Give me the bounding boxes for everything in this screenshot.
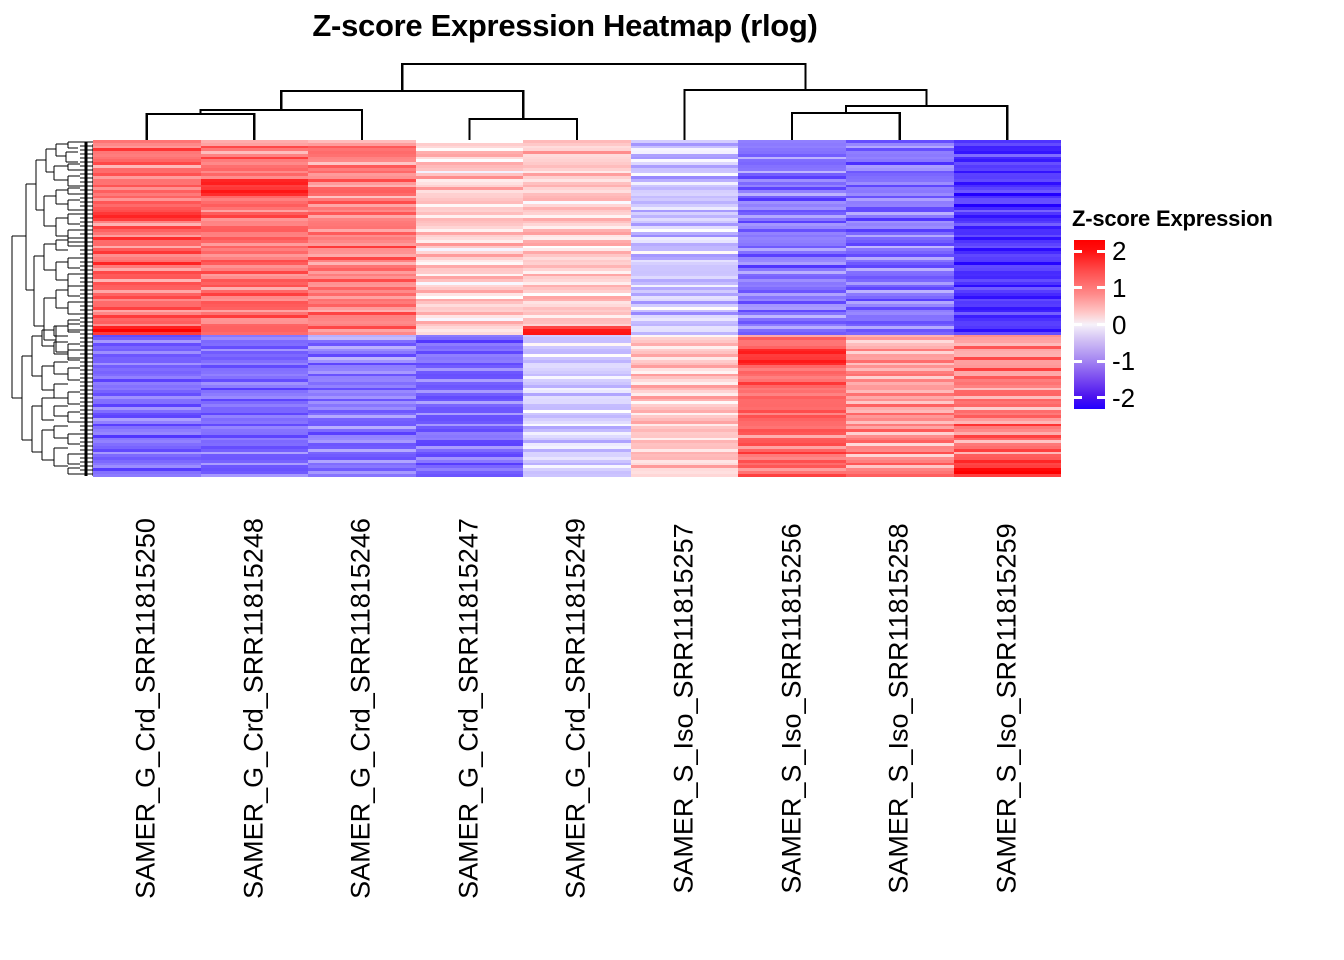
legend-tick-label: 2 — [1112, 238, 1126, 264]
heatmap-cell — [308, 474, 416, 477]
column-label-2: SAMER_G_Crd_SRR11815248 — [201, 478, 309, 948]
legend-tick-label: -2 — [1112, 385, 1135, 411]
column-label-text: SAMER_G_Crd_SRR11815249 — [561, 518, 592, 899]
legend-body: 210-1-2 — [1072, 240, 1338, 415]
row-dendrogram — [10, 140, 93, 476]
heatmap-cell — [954, 474, 1062, 477]
legend: Z-score Expression 210-1-2 — [1072, 206, 1338, 415]
heatmap-column — [93, 140, 201, 476]
heatmap-cell — [738, 474, 846, 477]
legend-tick — [1074, 323, 1105, 326]
column-label-text: SAMER_G_Crd_SRR11815247 — [453, 518, 484, 899]
heatmap-grid — [93, 140, 1061, 476]
legend-tick-label: 1 — [1112, 275, 1126, 301]
heatmap-column — [846, 140, 954, 476]
heatmap-cell — [523, 474, 631, 477]
heatmap-column — [954, 140, 1062, 476]
page-title: Z-score Expression Heatmap (rlog) — [0, 8, 1130, 44]
heatmap-cell — [846, 474, 954, 477]
legend-tick — [1074, 250, 1105, 253]
heatmap-figure: Z-score Expression Heatmap (rlog) — [0, 0, 1344, 960]
column-label-text: SAMER_S_Iso_SRR11815258 — [884, 523, 915, 893]
heatmap-column — [416, 140, 524, 476]
legend-tick-label: -1 — [1112, 348, 1135, 374]
column-label-text: SAMER_G_Crd_SRR11815246 — [346, 518, 377, 899]
heatmap-cell — [631, 474, 739, 477]
column-label-text: SAMER_G_Crd_SRR11815248 — [238, 518, 269, 899]
column-label-6: SAMER_S_Iso_SRR11815257 — [631, 478, 739, 948]
heatmap-column — [201, 140, 309, 476]
legend-tick — [1074, 396, 1105, 399]
heatmap-column — [631, 140, 739, 476]
column-label-text: SAMER_S_Iso_SRR11815257 — [669, 523, 700, 893]
legend-title: Z-score Expression — [1072, 206, 1338, 232]
column-label-1: SAMER_G_Crd_SRR11815250 — [93, 478, 201, 948]
heatmap-column — [738, 140, 846, 476]
column-label-7: SAMER_S_Iso_SRR11815256 — [738, 478, 846, 948]
heatmap-column — [523, 140, 631, 476]
column-label-8: SAMER_S_Iso_SRR11815258 — [846, 478, 954, 948]
legend-tick — [1074, 360, 1105, 363]
legend-tick-label: 0 — [1112, 312, 1126, 338]
column-label-3: SAMER_G_Crd_SRR11815246 — [308, 478, 416, 948]
column-dendrogram — [93, 58, 1061, 140]
heatmap-column — [308, 140, 416, 476]
column-label-row: SAMER_G_Crd_SRR11815250SAMER_G_Crd_SRR11… — [93, 478, 1061, 948]
column-label-5: SAMER_G_Crd_SRR11815249 — [523, 478, 631, 948]
column-label-text: SAMER_G_Crd_SRR11815250 — [131, 518, 162, 899]
column-label-text: SAMER_S_Iso_SRR11815256 — [776, 523, 807, 893]
column-label-4: SAMER_G_Crd_SRR11815247 — [416, 478, 524, 948]
heatmap-cell — [201, 474, 309, 477]
heatmap-cell — [416, 474, 524, 477]
legend-tick — [1074, 286, 1105, 289]
heatmap-cell — [93, 474, 201, 477]
column-label-text: SAMER_S_Iso_SRR11815259 — [991, 523, 1022, 893]
column-label-9: SAMER_S_Iso_SRR11815259 — [953, 478, 1061, 948]
